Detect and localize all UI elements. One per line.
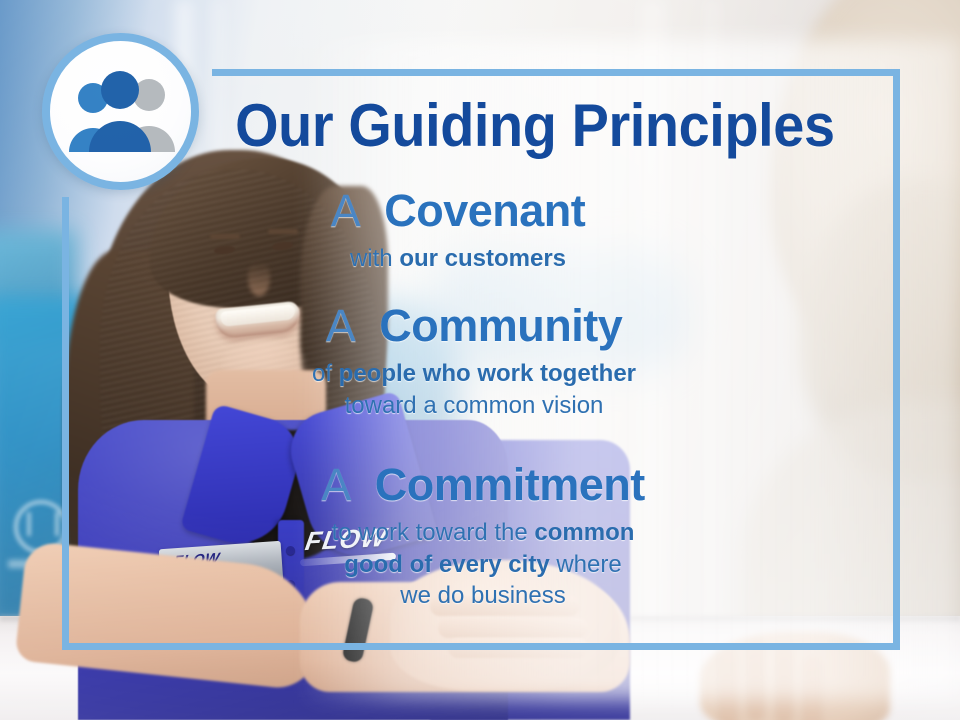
- principle-community: A Community of people who work togethert…: [0, 303, 948, 421]
- principle-heading: A Community: [0, 303, 948, 349]
- employee-finger: [448, 638, 588, 658]
- customer-finger: [748, 642, 764, 720]
- customer-finger: [804, 658, 820, 720]
- principle-keyword: Community: [379, 300, 622, 351]
- customer-hand: [700, 632, 890, 720]
- principle-subtitle: with our customers: [0, 243, 916, 275]
- principle-subtitle: to work toward the commongood of every c…: [0, 517, 960, 612]
- customer-finger: [776, 646, 792, 720]
- principle-article: A: [331, 185, 373, 236]
- principle-keyword: Commitment: [375, 459, 645, 510]
- employee-finger: [438, 618, 588, 638]
- principle-heading: A Commitment: [0, 462, 960, 508]
- principle-commitment: A Commitment to work toward the commongo…: [0, 462, 960, 612]
- principle-article: A: [326, 300, 368, 351]
- principle-subtitle: of people who work togethertoward a comm…: [0, 358, 948, 421]
- customer-finger: [720, 650, 736, 720]
- guiding-principles-banner: FLOW FLOW: [0, 0, 960, 720]
- page-title: Our Guiding Principles: [34, 96, 927, 156]
- principle-covenant: A Covenant with our customers: [0, 188, 916, 275]
- principle-heading: A Covenant: [0, 188, 916, 234]
- principle-article: A: [321, 459, 363, 510]
- principle-keyword: Covenant: [384, 185, 585, 236]
